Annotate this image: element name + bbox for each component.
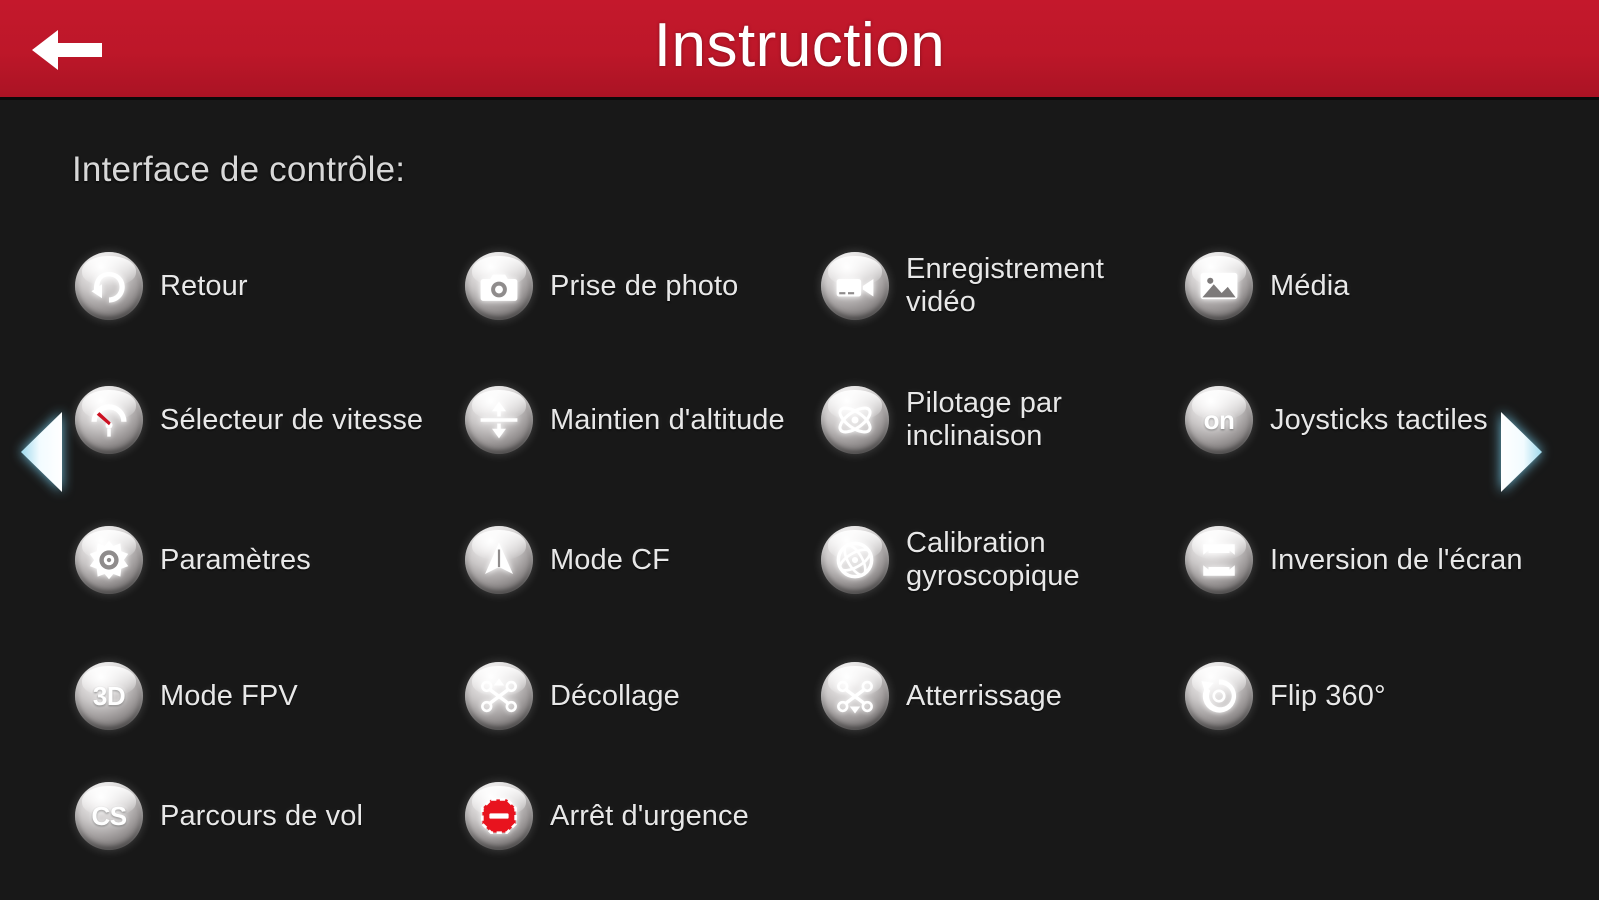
grid-item-label: Retour (160, 270, 248, 303)
headless-mode-icon (462, 523, 536, 597)
altitude-hold-icon (462, 383, 536, 457)
grid-item-label: Calibration gyroscopique (906, 527, 1080, 593)
icon-button[interactable] (1182, 249, 1256, 323)
icon-button[interactable] (1182, 659, 1256, 733)
takeoff-icon (462, 659, 536, 733)
grid-item-label: Décollage (550, 680, 680, 713)
speedometer-icon (72, 383, 146, 457)
screen-flip-icon (1182, 523, 1256, 597)
grid-item-label: Maintien d'altitude (550, 404, 785, 437)
grid-item-3d-fpv[interactable]: 3DMode FPV (72, 648, 298, 744)
cs-flight-path-icon-label: CS (91, 801, 126, 832)
icon-button[interactable] (1182, 523, 1256, 597)
grid-item-emergency-stop[interactable]: Arrêt d'urgence (462, 768, 749, 864)
on-toggle-icon: on (1182, 383, 1256, 457)
grid-item-gear[interactable]: Paramètres (72, 512, 311, 608)
icon-button[interactable] (72, 523, 146, 597)
grid-item-back-undo[interactable]: Retour (72, 238, 248, 334)
grid-item-screen-flip[interactable]: Inversion de l'écran (1182, 512, 1523, 608)
instruction-screen: Instruction Interface de contrôle: (0, 0, 1599, 900)
icon-button[interactable] (818, 383, 892, 457)
grid-item-camera[interactable]: Prise de photo (462, 238, 738, 334)
grid-item-cs-flight-path[interactable]: CSParcours de vol (72, 768, 363, 864)
grid-item-label: Média (1270, 270, 1350, 303)
icon-button[interactable] (462, 659, 536, 733)
grid-item-label: Inversion de l'écran (1270, 544, 1523, 577)
cs-flight-path-icon: CS (72, 779, 146, 853)
grid-item-video-camera[interactable]: Enregistrement vidéo (818, 238, 1104, 334)
grid-item-label: Flip 360° (1270, 680, 1386, 713)
icon-button[interactable] (72, 249, 146, 323)
video-camera-icon (818, 249, 892, 323)
grid-item-label: Mode CF (550, 544, 670, 577)
icon-button[interactable]: 3D (72, 659, 146, 733)
grid-item-flip-360[interactable]: Flip 360° (1182, 648, 1386, 744)
grid-item-label: Prise de photo (550, 270, 738, 303)
icon-button[interactable]: on (1182, 383, 1256, 457)
icon-button[interactable] (72, 383, 146, 457)
tilt-control-icon (818, 383, 892, 457)
icon-button[interactable] (462, 383, 536, 457)
grid-item-label: Paramètres (160, 544, 311, 577)
app-header: Instruction (0, 0, 1599, 100)
grid-item-gyro-calibration[interactable]: Calibration gyroscopique (818, 512, 1080, 608)
3d-fpv-icon: 3D (72, 659, 146, 733)
grid-item-tilt-control[interactable]: Pilotage par inclinaison (818, 372, 1062, 468)
on-toggle-icon-label: on (1204, 405, 1235, 436)
3d-fpv-icon-label: 3D (93, 681, 125, 712)
icon-button[interactable]: CS (72, 779, 146, 853)
grid-item-label: Sélecteur de vitesse (160, 404, 423, 437)
emergency-stop-icon (462, 779, 536, 853)
grid-item-on-toggle[interactable]: onJoysticks tactiles (1182, 372, 1488, 468)
gear-icon (72, 523, 146, 597)
back-undo-icon (72, 249, 146, 323)
grid-item-label: Enregistrement vidéo (906, 253, 1104, 319)
grid-item-label: Arrêt d'urgence (550, 800, 749, 833)
grid-item-label: Atterrissage (906, 680, 1062, 713)
grid-item-landing[interactable]: Atterrissage (818, 648, 1062, 744)
icon-button[interactable] (818, 249, 892, 323)
icon-button[interactable] (818, 659, 892, 733)
page-title: Instruction (0, 0, 1599, 97)
grid-item-label: Joysticks tactiles (1270, 404, 1488, 437)
icon-button[interactable] (462, 249, 536, 323)
grid-item-takeoff[interactable]: Décollage (462, 648, 680, 744)
camera-icon (462, 249, 536, 323)
grid-item-altitude-hold[interactable]: Maintien d'altitude (462, 372, 785, 468)
grid-item-label: Mode FPV (160, 680, 298, 713)
flip-360-icon (1182, 659, 1256, 733)
gyro-calibration-icon (818, 523, 892, 597)
grid-item-media-gallery[interactable]: Média (1182, 238, 1350, 334)
control-interface-grid: RetourPrise de photoEnregistrement vidéo… (0, 100, 1599, 900)
icon-button[interactable] (462, 523, 536, 597)
icon-button[interactable] (462, 779, 536, 853)
content-area: Interface de contrôle: (0, 100, 1599, 900)
grid-item-label: Parcours de vol (160, 800, 363, 833)
grid-item-headless-mode[interactable]: Mode CF (462, 512, 670, 608)
icon-button[interactable] (818, 523, 892, 597)
media-gallery-icon (1182, 249, 1256, 323)
grid-item-speedometer[interactable]: Sélecteur de vitesse (72, 372, 423, 468)
landing-icon (818, 659, 892, 733)
grid-item-label: Pilotage par inclinaison (906, 387, 1062, 453)
